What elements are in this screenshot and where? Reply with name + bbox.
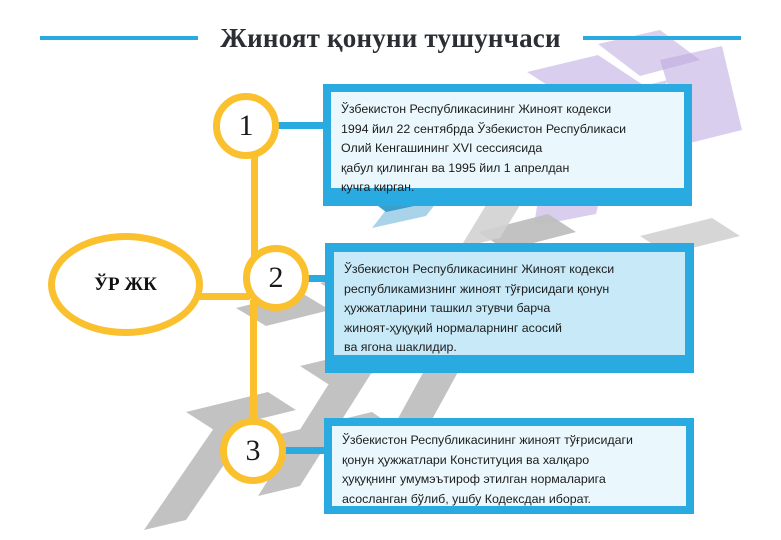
text-box-1-body: Ўзбекистон Республикасининг Жиноят кодек… <box>331 92 684 188</box>
text-box-2: Ўзбекистон Республикасининг Жиноят кодек… <box>325 243 694 373</box>
page-title: Жиноят қонуни тушунчаси <box>220 23 561 54</box>
connector-node3-to-box3 <box>281 447 329 454</box>
node-number-1: 1 <box>239 111 254 141</box>
slide-canvas: Жиноят қонуни тушунчаси ЎР ЖК 1 2 3 Ўзбе… <box>0 0 781 540</box>
node-circle-2[interactable]: 2 <box>243 245 309 311</box>
hub-label: ЎР ЖК <box>94 274 157 296</box>
text-box-1: Ўзбекистон Республикасининг Жиноят кодек… <box>323 84 692 206</box>
slide-title-row: Жиноят қонуни тушунчаси <box>0 18 781 58</box>
text-box-2-body: Ўзбекистон Республикасининг Жиноят кодек… <box>334 252 685 355</box>
title-rule-right <box>583 36 741 40</box>
connector-hub-to-node2 <box>198 293 250 300</box>
text-box-3-body: Ўзбекистон Республикасининг жиноят тўғри… <box>332 426 686 506</box>
node-circle-1[interactable]: 1 <box>213 93 279 159</box>
node-number-2: 2 <box>269 263 284 293</box>
connector-node1-to-node2 <box>251 150 258 262</box>
hub-circle[interactable]: ЎР ЖК <box>48 233 203 336</box>
node-circle-3[interactable]: 3 <box>220 418 286 484</box>
title-rule-left <box>40 36 198 40</box>
connector-node2-to-node3 <box>250 300 257 432</box>
node-number-3: 3 <box>246 436 261 466</box>
connector-node1-to-box1 <box>274 122 326 129</box>
text-box-3: Ўзбекистон Республикасининг жиноят тўғри… <box>324 418 694 514</box>
